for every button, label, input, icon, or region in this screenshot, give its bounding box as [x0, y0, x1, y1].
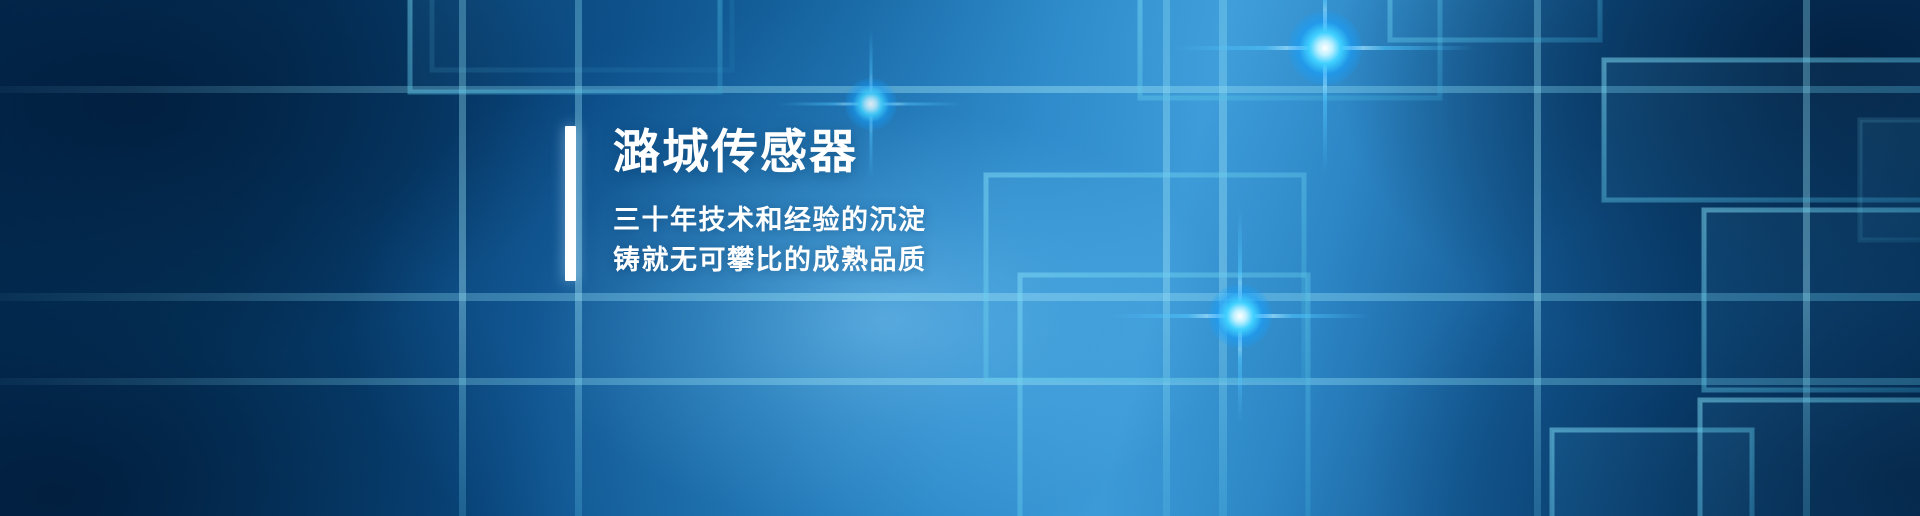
rect-upper-right [1390, 0, 1600, 40]
geometric-decoration-layer [0, 0, 1920, 516]
accent-bar [565, 126, 576, 281]
rect-lower-center [1020, 275, 1308, 516]
banner-text-group: 潞城传感器 三十年技术和经验的沉淀 铸就无可攀比的成熟品质 [576, 126, 927, 281]
banner-subtitle-line-1: 三十年技术和经验的沉淀 [613, 200, 927, 241]
banner-copy-block: 潞城传感器 三十年技术和经验的沉淀 铸就无可攀比的成熟品质 [565, 126, 927, 281]
banner-subtitle-line-2: 铸就无可攀比的成熟品质 [613, 240, 927, 281]
rect-top-left [410, 0, 720, 92]
hero-banner: 潞城传感器 三十年技术和经验的沉淀 铸就无可攀比的成熟品质 [0, 0, 1920, 516]
banner-title: 潞城传感器 [613, 126, 927, 178]
rect-bottom-edge [1552, 430, 1752, 516]
rect-far-right-top [1860, 120, 1920, 240]
